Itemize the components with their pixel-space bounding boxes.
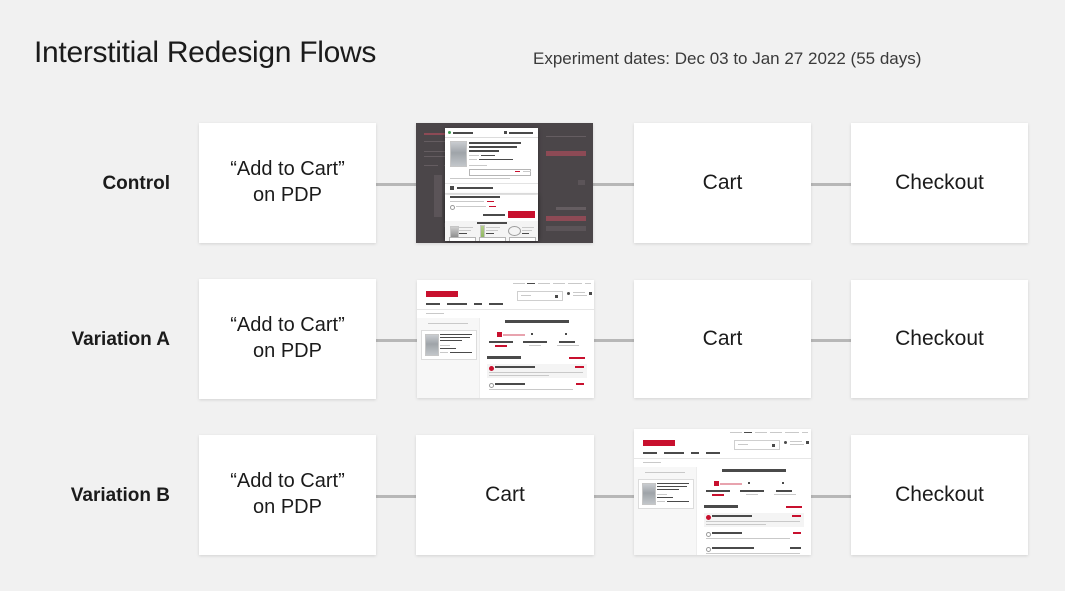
row-label-variation-a: Variation A	[0, 329, 170, 351]
configure-page-heading	[505, 320, 569, 323]
flow-node-label: Cart	[703, 170, 743, 197]
recommended-accessories-heading	[477, 222, 507, 224]
search-input[interactable]	[734, 440, 780, 450]
flow-node-label: “Add to Cart” on PDP	[230, 469, 344, 520]
delivery-option-label-1	[495, 366, 535, 368]
flow-node-label-line1: “Add to Cart”	[230, 157, 344, 183]
modal-header	[445, 128, 538, 138]
modal-title-text	[453, 132, 473, 134]
configure-appliance-page	[417, 280, 594, 398]
delivery-option-radio-2[interactable]	[489, 383, 494, 388]
kitchenaid-logo[interactable]	[643, 440, 675, 446]
step-label-1	[489, 341, 513, 343]
cart-icon[interactable]	[806, 441, 809, 444]
accessory-image-3	[508, 226, 521, 236]
flow-node-label: Checkout	[895, 482, 984, 509]
flow-node-cart[interactable]: Cart	[416, 435, 594, 555]
breadcrumb[interactable]	[643, 462, 661, 463]
flow-row-variation-a: Variation A “Add to Cart” on PDP	[0, 279, 1065, 409]
delivery-option-label-2	[495, 383, 525, 385]
success-check-icon	[448, 131, 451, 134]
quantity-select[interactable]	[469, 169, 531, 176]
nav-item-products[interactable]	[426, 303, 440, 305]
step-label-3	[559, 341, 575, 343]
flow-node-label-line1: “Add to Cart”	[230, 469, 344, 495]
flow-node-label-line2: on PDP	[230, 183, 344, 209]
delivery-options-text	[457, 187, 493, 189]
delivery-option-radio-2[interactable]	[706, 532, 711, 537]
breadcrumb[interactable]	[426, 313, 444, 314]
continue-shopping-button[interactable]	[483, 214, 505, 216]
search-icon[interactable]	[772, 444, 775, 447]
flow-node-label: Checkout	[895, 326, 984, 353]
nav-item-support[interactable]	[706, 452, 720, 454]
delivery-option-radio-1[interactable]	[706, 515, 711, 520]
flow-node-add-to-cart-pdp[interactable]: “Add to Cart” on PDP	[199, 279, 376, 399]
delivery-option-radio-3[interactable]	[706, 547, 711, 552]
search-icon[interactable]	[555, 295, 558, 298]
brand-header	[634, 436, 811, 459]
flow-node-label-line2: on PDP	[230, 339, 344, 365]
flow-row-control: Control “Add to Cart” on PDP	[0, 123, 1065, 253]
flow-node-label-line1: “Add to Cart”	[230, 313, 344, 339]
flow-node-checkout[interactable]: Checkout	[851, 435, 1028, 555]
flow-node-interstitial-thumbnail[interactable]	[416, 123, 593, 243]
nav-item-support[interactable]	[489, 303, 503, 305]
select-delivery-option-heading	[487, 356, 521, 359]
delivery-option-label-3	[712, 547, 754, 549]
flow-node-configure-page-thumbnail[interactable]	[634, 429, 811, 555]
flow-node-checkout[interactable]: Checkout	[851, 280, 1028, 398]
row-label-control: Control	[0, 173, 170, 195]
account-icon[interactable]	[784, 441, 787, 444]
account-icon[interactable]	[567, 292, 570, 295]
flow-node-checkout[interactable]: Checkout	[851, 123, 1028, 243]
kitchenaid-logo[interactable]	[426, 291, 458, 297]
nav-item-care[interactable]	[474, 303, 482, 305]
product-image	[450, 141, 467, 167]
flow-node-label: Checkout	[895, 170, 984, 197]
connector-1	[368, 339, 424, 342]
step-label-3	[776, 490, 792, 492]
flow-row-variation-b: Variation B “Add to Cart” on PDP Cart	[0, 435, 1065, 565]
step-label-1	[706, 490, 730, 492]
truck-icon	[450, 186, 454, 190]
row-label-variation-b: Variation B	[0, 485, 170, 507]
flow-node-add-to-cart-pdp[interactable]: “Add to Cart” on PDP	[199, 435, 376, 555]
slide-canvas: Interstitial Redesign Flows Experiment d…	[0, 0, 1065, 591]
nav-item-care[interactable]	[691, 452, 699, 454]
proceed-to-cart-link[interactable]	[509, 132, 533, 134]
flow-node-cart[interactable]: Cart	[634, 123, 811, 243]
flow-node-configure-page-thumbnail[interactable]	[417, 280, 594, 398]
product-summary-card	[421, 330, 477, 360]
product-summary-column	[417, 318, 480, 398]
product-summary-card	[638, 479, 694, 509]
flow-node-add-to-cart-pdp[interactable]: “Add to Cart” on PDP	[199, 123, 376, 243]
nav-item-inspiration[interactable]	[664, 452, 684, 454]
delivery-option-label-2	[712, 532, 742, 534]
configure-page-heading	[722, 469, 786, 472]
accessory-add-to-cart-2[interactable]	[479, 237, 506, 241]
page-title: Interstitial Redesign Flows	[34, 36, 376, 70]
accessory-add-to-cart-3[interactable]	[509, 237, 536, 241]
flow-node-label: “Add to Cart” on PDP	[230, 157, 344, 208]
flow-node-cart[interactable]: Cart	[634, 280, 811, 398]
delivery-option-label-1	[712, 515, 752, 517]
brand-header	[417, 287, 594, 310]
product-summary-column	[634, 467, 697, 555]
flow-node-label: Cart	[485, 482, 525, 509]
nav-item-inspiration[interactable]	[447, 303, 467, 305]
cart-icon[interactable]	[589, 292, 592, 295]
step-label-2	[523, 341, 547, 343]
flow-node-label: “Add to Cart” on PDP	[230, 313, 344, 364]
add-to-cart-primary-button[interactable]	[508, 211, 535, 218]
select-delivery-option-heading	[704, 505, 738, 508]
flow-node-label: Cart	[703, 326, 743, 353]
delivery-option-radio-1[interactable]	[489, 366, 494, 371]
step-label-2	[740, 490, 764, 492]
flow-node-label-line2: on PDP	[230, 495, 344, 521]
search-input[interactable]	[517, 291, 563, 301]
modal-footer	[445, 195, 538, 241]
configure-appliance-page	[634, 429, 811, 555]
accessory-add-to-cart-1[interactable]	[449, 237, 476, 241]
nav-item-products[interactable]	[643, 452, 657, 454]
experiment-dates-caption: Experiment dates: Dec 03 to Jan 27 2022 …	[533, 49, 921, 69]
cart-icon	[504, 131, 507, 134]
